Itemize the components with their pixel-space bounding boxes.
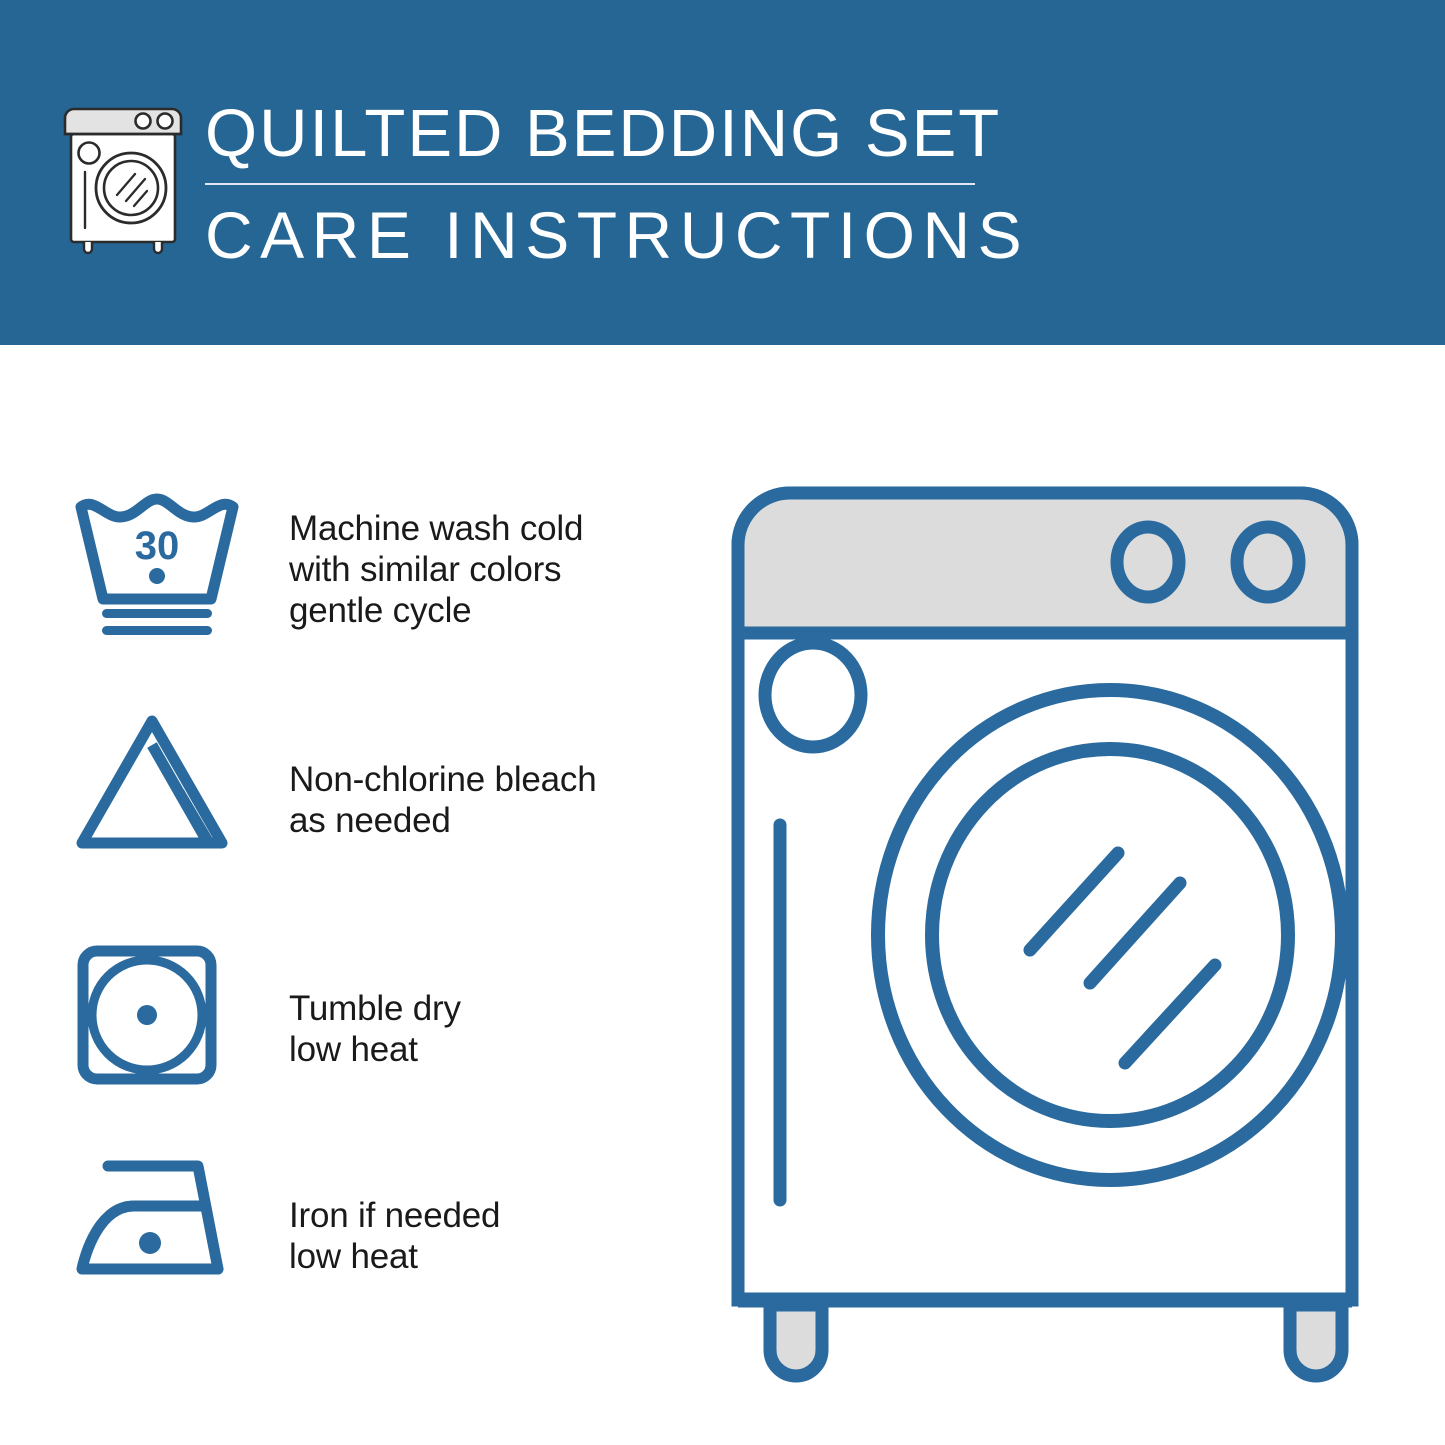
page-title: QUILTED BEDDING SET	[205, 96, 995, 172]
care-label: Machine wash cold with similar colors ge…	[289, 508, 689, 631]
leg-right	[1290, 1305, 1342, 1376]
care-label-line: low heat	[289, 1236, 689, 1277]
care-label-line: low heat	[289, 1029, 689, 1070]
bleach-triangle-icon	[72, 715, 242, 865]
care-label-line: Machine wash cold	[289, 508, 689, 549]
iron-low-heat-icon	[72, 1150, 242, 1300]
leg-left	[770, 1305, 822, 1376]
care-label-line: with similar colors	[289, 549, 689, 590]
wash-basin-30-icon: 30	[72, 495, 242, 645]
header-banner: QUILTED BEDDING SET CARE INSTRUCTIONS	[0, 0, 1445, 345]
knob-left	[1117, 527, 1179, 597]
knob-right	[1237, 527, 1299, 597]
care-label: Non-chlorine bleach as needed	[289, 759, 689, 841]
care-label-line: Non-chlorine bleach	[289, 759, 689, 800]
care-label-line: gentle cycle	[289, 590, 689, 631]
title-divider	[205, 183, 975, 185]
care-label-line: Tumble dry	[289, 988, 689, 1029]
care-label: Iron if needed low heat	[289, 1195, 689, 1277]
care-instruction-list: 30 Machine wash cold with similar colors…	[0, 345, 700, 1445]
washing-machine-logo-icon	[62, 100, 184, 252]
care-label-line: Iron if needed	[289, 1195, 689, 1236]
tumble-dry-low-icon	[72, 940, 242, 1090]
care-label: Tumble dry low heat	[289, 988, 689, 1070]
care-instructions-page: QUILTED BEDDING SET CARE INSTRUCTIONS 30	[0, 0, 1445, 1445]
header-text-block: QUILTED BEDDING SET CARE INSTRUCTIONS	[205, 96, 995, 273]
care-label-line: as needed	[289, 800, 689, 841]
detergent-dispenser-circle	[765, 643, 861, 747]
page-subtitle: CARE INSTRUCTIONS	[205, 197, 995, 273]
wash-temperature-value: 30	[135, 524, 180, 568]
door-inner-ring	[932, 749, 1288, 1121]
front-load-washing-machine-illustration	[700, 455, 1420, 1375]
